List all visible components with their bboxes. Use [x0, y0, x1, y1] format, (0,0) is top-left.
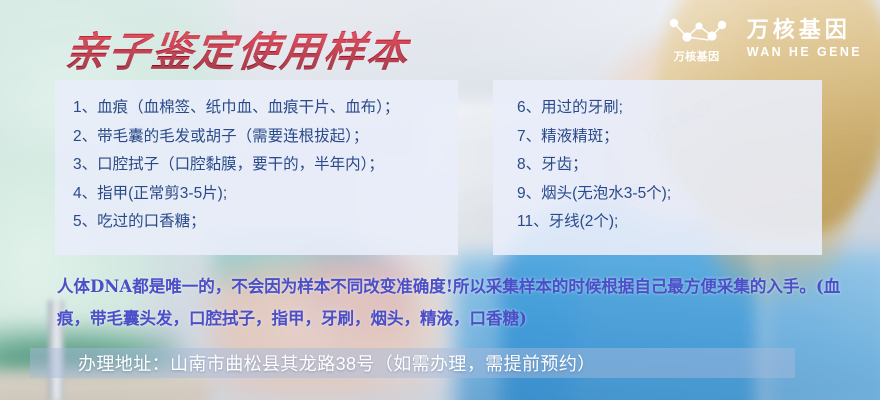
logo-mark: 万核基因 — [665, 14, 729, 62]
list-item: 5、吃过的口香糖； — [55, 208, 458, 237]
list-item: 7、精液精斑； — [493, 123, 822, 152]
sample-list-right: 6、用过的牙刷; 7、精液精斑； 8、牙齿； 9、烟头(无泡水3-5个); 11… — [493, 94, 822, 237]
address-text: 办理地址：山南市曲松县其龙路38号（如需办理，需提前预约） — [30, 350, 596, 376]
logo-name-cn: 万核基因 — [747, 17, 862, 42]
address-bar: 办理地址：山南市曲松县其龙路38号（如需办理，需提前预约） — [30, 348, 795, 378]
list-item: 6、用过的牙刷; — [493, 94, 822, 123]
list-item: 9、烟头(无泡水3-5个); — [493, 180, 822, 209]
page-title: 亲子鉴定使用样本 — [62, 18, 413, 78]
sample-list-panel-left: 1、血痕（血棉签、纸巾血、血痕干片、血布）； 2、带毛囊的毛发或胡子（需要连根拔… — [55, 80, 458, 255]
list-item: 3、口腔拭子（口腔黏膜，要干的，半年内）； — [55, 151, 458, 180]
list-item: 11、牙线(2个); — [493, 208, 822, 237]
logo-name-en: WAN HE GENE — [747, 45, 862, 59]
list-item: 2、带毛囊的毛发或胡子（需要连根拔起）； — [55, 123, 458, 152]
promo-banner: 万核基因 WAN HE GENE 万核基因 WAN HE GENE 万核基因 W… — [0, 0, 880, 400]
list-item: 1、血痕（血棉签、纸巾血、血痕干片、血布）； — [55, 94, 458, 123]
list-item: 4、指甲(正常剪3-5片); — [55, 180, 458, 209]
sample-list-left: 1、血痕（血棉签、纸巾血、血痕干片、血布）； 2、带毛囊的毛发或胡子（需要连根拔… — [55, 94, 458, 237]
list-item: 8、牙齿； — [493, 151, 822, 180]
sample-list-panel-right: 6、用过的牙刷; 7、精液精斑； 8、牙齿； 9、烟头(无泡水3-5个); 11… — [493, 80, 822, 255]
molecule-icon — [665, 16, 729, 46]
brand-logo: 万核基因 万核基因 WAN HE GENE — [665, 14, 862, 62]
logo-wordmark: 万核基因 WAN HE GENE — [747, 17, 862, 58]
logo-mark-label: 万核基因 — [665, 48, 729, 64]
note-text: 人体DNA都是唯一的，不会因为样本不同改变准确度!所以采集样本的时候根据自己最方… — [57, 271, 847, 335]
